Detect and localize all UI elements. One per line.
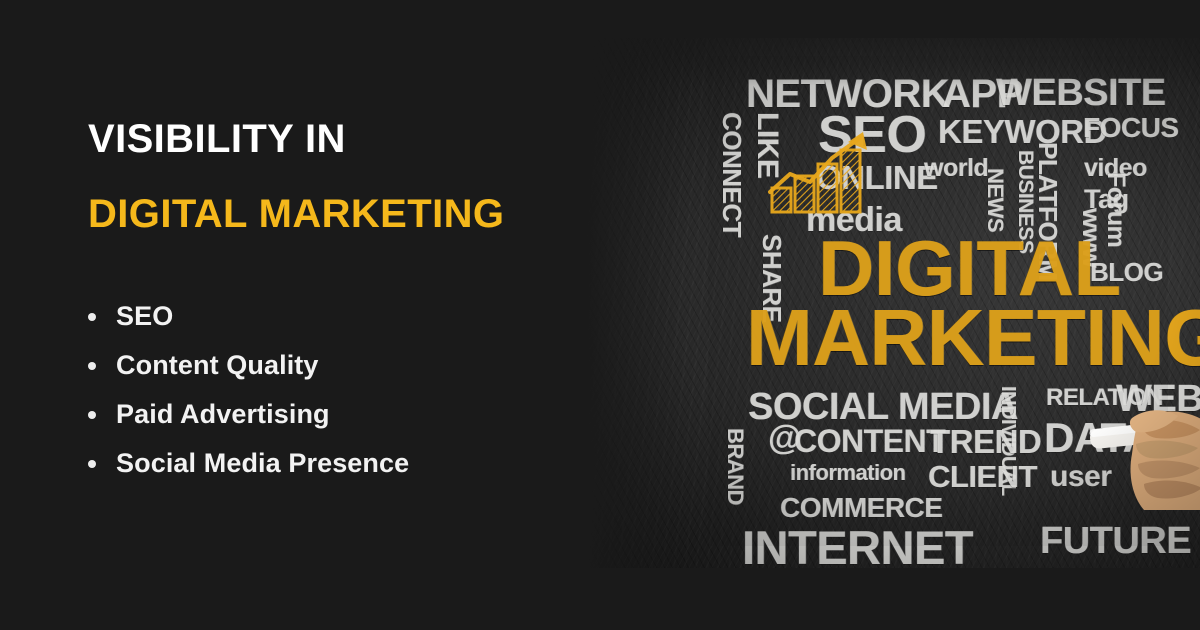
bullet-label: Social Media Presence xyxy=(116,448,409,479)
bullet-dot-icon xyxy=(88,313,96,321)
hand-holding-chalk-icon xyxy=(1088,378,1200,510)
slide-canvas: NETWORKAPPWEBSITECONNECTLIKESEOKEYWORDFO… xyxy=(0,0,1200,630)
bullet-label: SEO xyxy=(116,301,173,332)
cloud-word: FUTURE xyxy=(1040,526,1191,558)
bullet-label: Content Quality xyxy=(116,350,319,381)
cloud-word: WEBSITE xyxy=(996,78,1166,110)
bullet-list: SEOContent QualityPaid AdvertisingSocial… xyxy=(88,301,558,479)
cloud-word: FOCUS xyxy=(1083,116,1179,140)
cloud-word: COMMERCE xyxy=(780,496,942,520)
bullet-dot-icon xyxy=(88,411,96,419)
cloud-word: TREND xyxy=(930,428,1041,456)
bullet-item: SEO xyxy=(88,301,558,332)
cloud-word: world xyxy=(924,158,988,179)
left-text-panel: VISIBILITY IN DIGITAL MARKETING SEOConte… xyxy=(88,118,558,497)
cloud-word: CONNECT xyxy=(720,112,742,237)
cloud-word: CONTENT xyxy=(794,428,945,455)
bullet-item: Social Media Presence xyxy=(88,448,558,479)
cloud-word: DIGITAL xyxy=(818,236,1121,302)
bullet-item: Paid Advertising xyxy=(88,399,558,430)
cloud-word: MARKETING xyxy=(746,304,1200,371)
cloud-word: CLIENT xyxy=(928,464,1037,490)
bullet-label: Paid Advertising xyxy=(116,399,330,430)
bullet-dot-icon xyxy=(88,460,96,468)
cloud-word: BRAND xyxy=(726,428,744,505)
headline-line-2: DIGITAL MARKETING xyxy=(88,193,558,235)
bullet-dot-icon xyxy=(88,362,96,370)
cloud-word: information xyxy=(790,464,906,482)
rising-bar-chart-doodle xyxy=(768,130,878,214)
cloud-word: NEWS xyxy=(986,168,1004,232)
cloud-word: BLOG xyxy=(1090,262,1163,284)
bullet-item: Content Quality xyxy=(88,350,558,381)
cloud-word: INTERNET xyxy=(742,528,973,567)
cloud-word: KEYWORD xyxy=(938,118,1107,146)
headline-line-1: VISIBILITY IN xyxy=(88,118,558,160)
chalkboard-artwork: NETWORKAPPWEBSITECONNECTLIKESEOKEYWORDFO… xyxy=(585,38,1200,568)
